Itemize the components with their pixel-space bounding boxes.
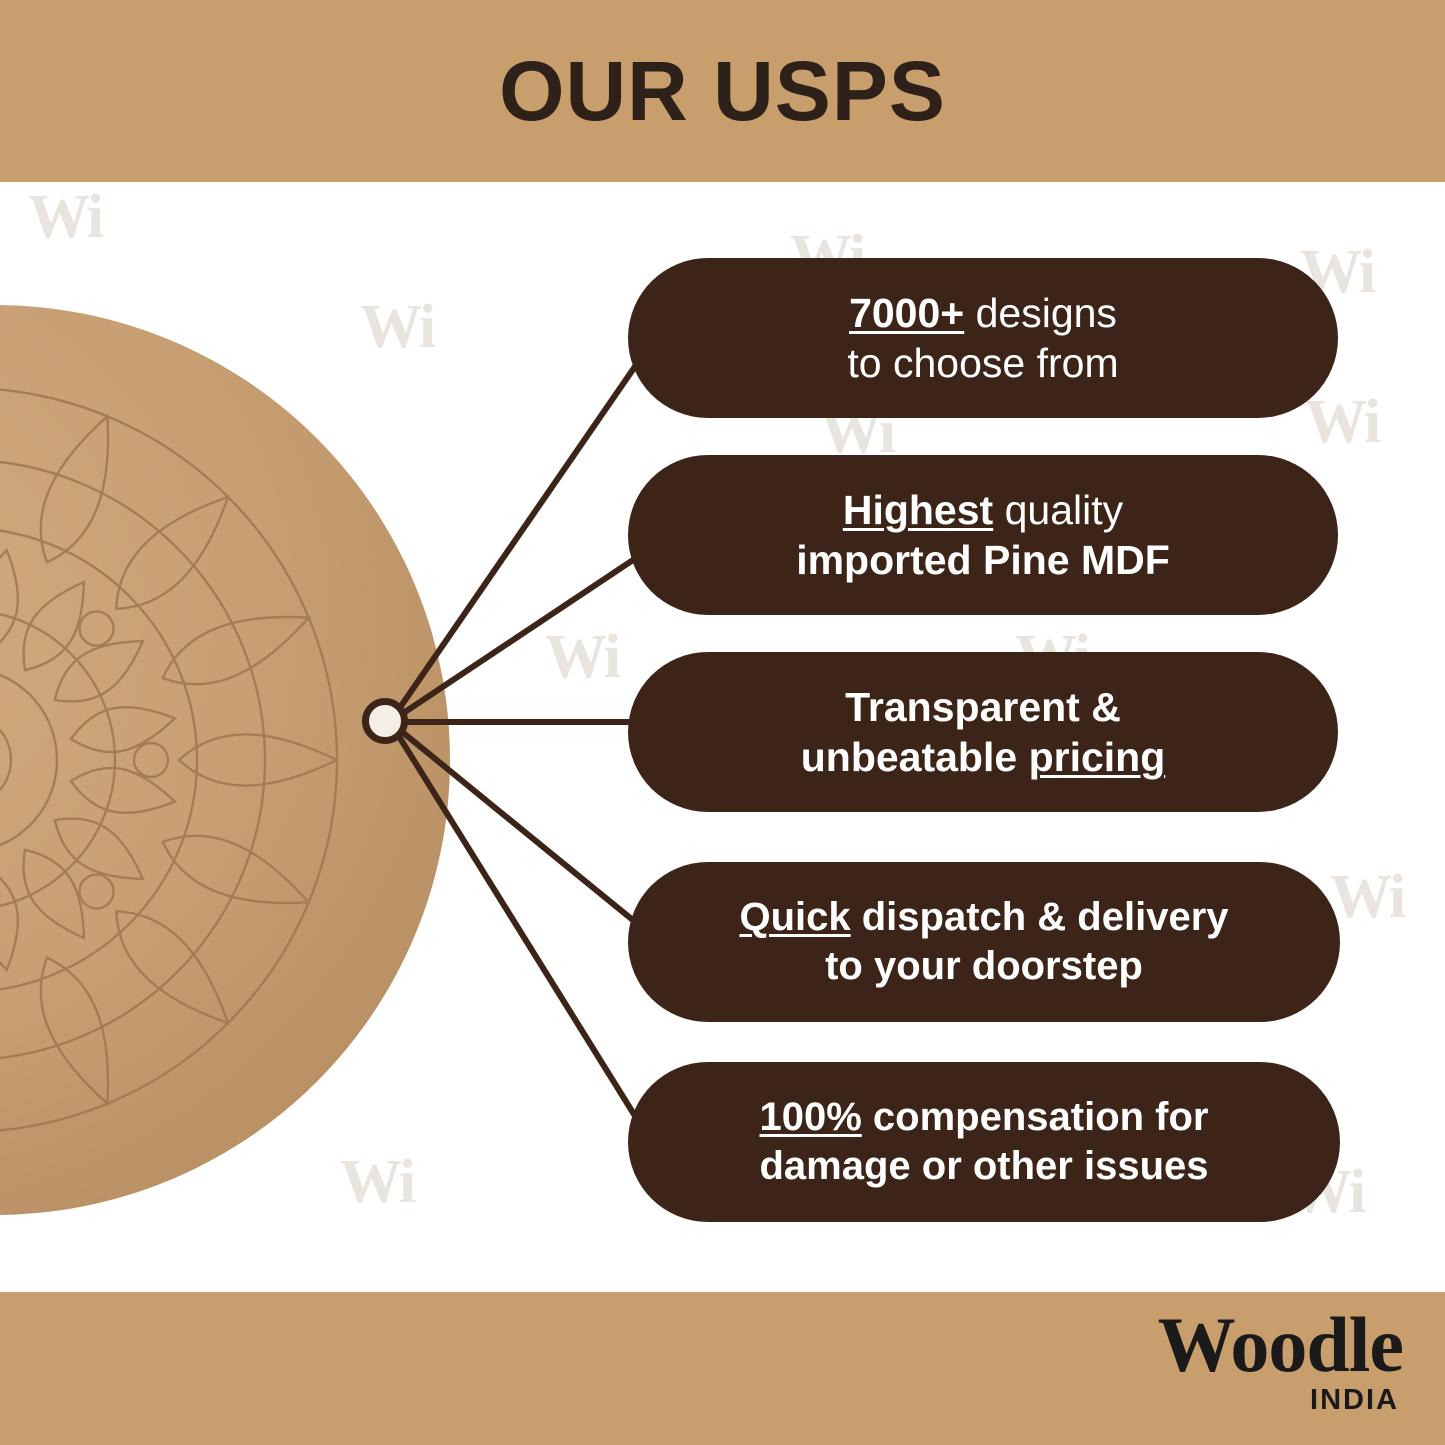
usp-line2-prefix: unbeatable	[801, 734, 1029, 780]
usp-pill-pricing[interactable]: Transparent & unbeatable pricing	[628, 652, 1338, 812]
usp-line2: imported Pine MDF	[796, 537, 1170, 583]
brand-logo: Woodle INDIA	[1158, 1308, 1403, 1417]
usp-line2: to choose from	[847, 340, 1118, 386]
watermark: Wi	[1330, 862, 1404, 933]
usp-line1-rest: compensation for	[862, 1095, 1209, 1139]
usp-line2: to your doorstep	[825, 944, 1143, 988]
usp-infographic: OUR USPs Wi Wi Wi Wi Wi Wi Wi Wi Wi Wi W…	[0, 0, 1445, 1445]
usp-pill-material-quality[interactable]: Highest quality imported Pine MDF	[628, 455, 1338, 615]
usp-line1: Transparent &	[845, 684, 1121, 730]
brand-name: Woodle	[1158, 1308, 1403, 1382]
usp-highlight: Highest	[843, 487, 993, 533]
watermark: Wi	[360, 292, 434, 363]
usp-text: Highest quality imported Pine MDF	[796, 485, 1170, 585]
usp-line2: damage or other issues	[759, 1144, 1208, 1188]
usp-line1-rest: quality	[993, 487, 1123, 533]
usp-text: 7000+ designs to choose from	[847, 288, 1118, 388]
usp-highlight: 7000+	[849, 290, 964, 336]
watermark: Wi	[340, 1147, 414, 1218]
watermark: Wi	[545, 622, 619, 693]
product-image	[0, 300, 455, 1220]
watermark: Wi	[28, 182, 102, 253]
hub-node	[362, 698, 408, 744]
usp-line1-rest: designs	[964, 290, 1117, 336]
usp-text: Transparent & unbeatable pricing	[801, 682, 1166, 782]
usp-text: Quick dispatch & delivery to your doorst…	[739, 893, 1228, 991]
watermark: Wi	[1305, 387, 1379, 458]
usp-pill-dispatch-delivery[interactable]: Quick dispatch & delivery to your doorst…	[628, 862, 1340, 1022]
brand-region: INDIA	[1158, 1384, 1399, 1417]
usp-line1-rest: dispatch & delivery	[851, 895, 1229, 939]
usp-text: 100% compensation for damage or other is…	[759, 1093, 1208, 1191]
usp-pill-designs-count[interactable]: 7000+ designs to choose from	[628, 258, 1338, 418]
page-title: OUR USPs	[0, 0, 1445, 182]
usp-highlight: pricing	[1029, 734, 1166, 780]
usp-highlight: Quick	[739, 895, 850, 939]
usp-pill-compensation[interactable]: 100% compensation for damage or other is…	[628, 1062, 1340, 1222]
usp-highlight: 100%	[759, 1095, 861, 1139]
